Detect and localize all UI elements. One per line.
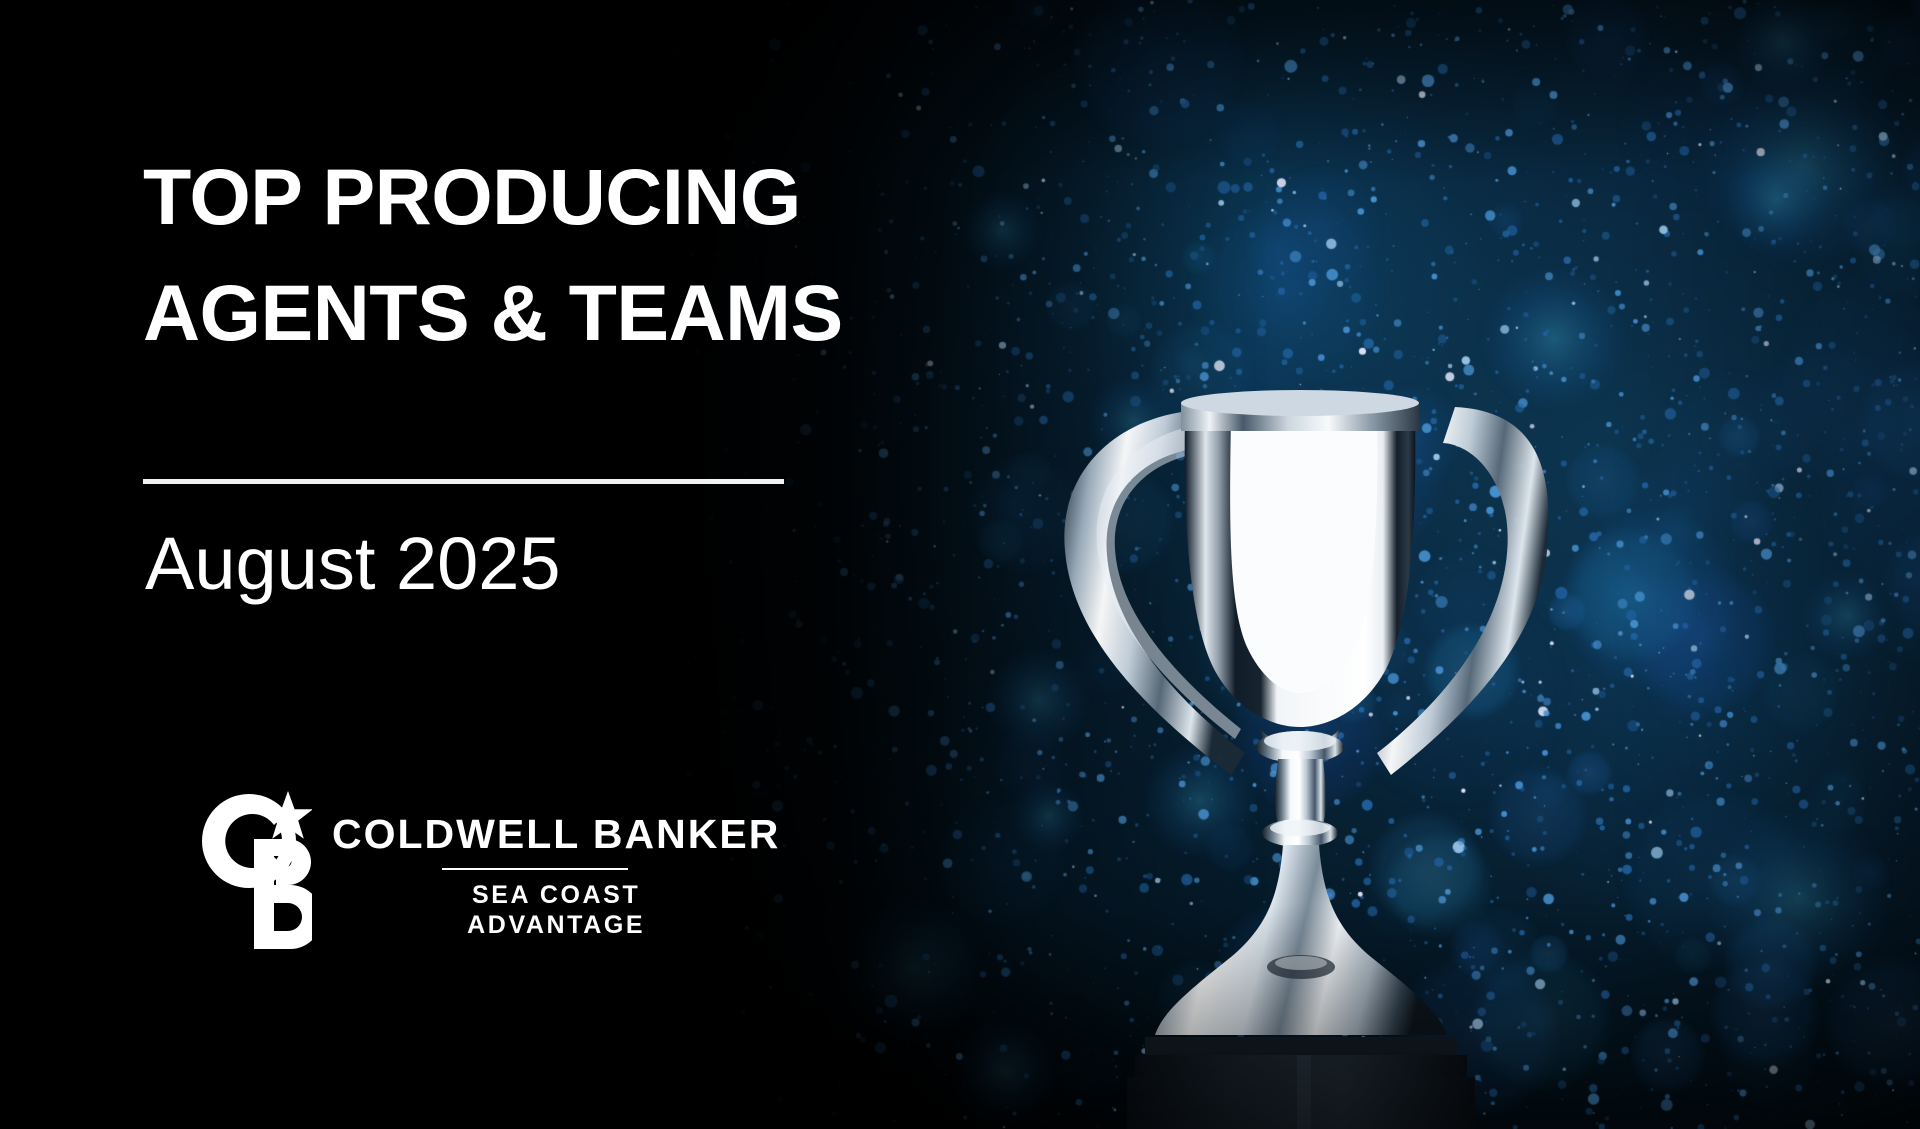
logo-wordmark: COLDWELL BANKER SEA COAST ADVANTAGE (332, 789, 780, 940)
logo-brand-name: COLDWELL BANKER (332, 814, 780, 855)
headline-line-1: TOP PRODUCING (143, 139, 903, 255)
subtitle-date: August 2025 (145, 521, 905, 606)
silver-trophy-cup-icon (1035, 355, 1555, 1129)
logo-affiliate-line-1: SEA COAST (332, 880, 780, 910)
coldwell-banker-logo: COLDWELL BANKER SEA COAST ADVANTAGE (196, 789, 780, 959)
title-divider-rule (143, 479, 784, 484)
headline-line-2: AGENTS & TEAMS (143, 255, 903, 371)
slide-canvas: TOP PRODUCING AGENTS & TEAMS August 2025… (0, 0, 1920, 1129)
logo-affiliate-line-2: ADVANTAGE (332, 910, 780, 940)
logo-divider (442, 868, 628, 870)
coldwell-banker-cb-star-icon (196, 789, 312, 959)
page-title: TOP PRODUCING AGENTS & TEAMS (143, 139, 903, 371)
